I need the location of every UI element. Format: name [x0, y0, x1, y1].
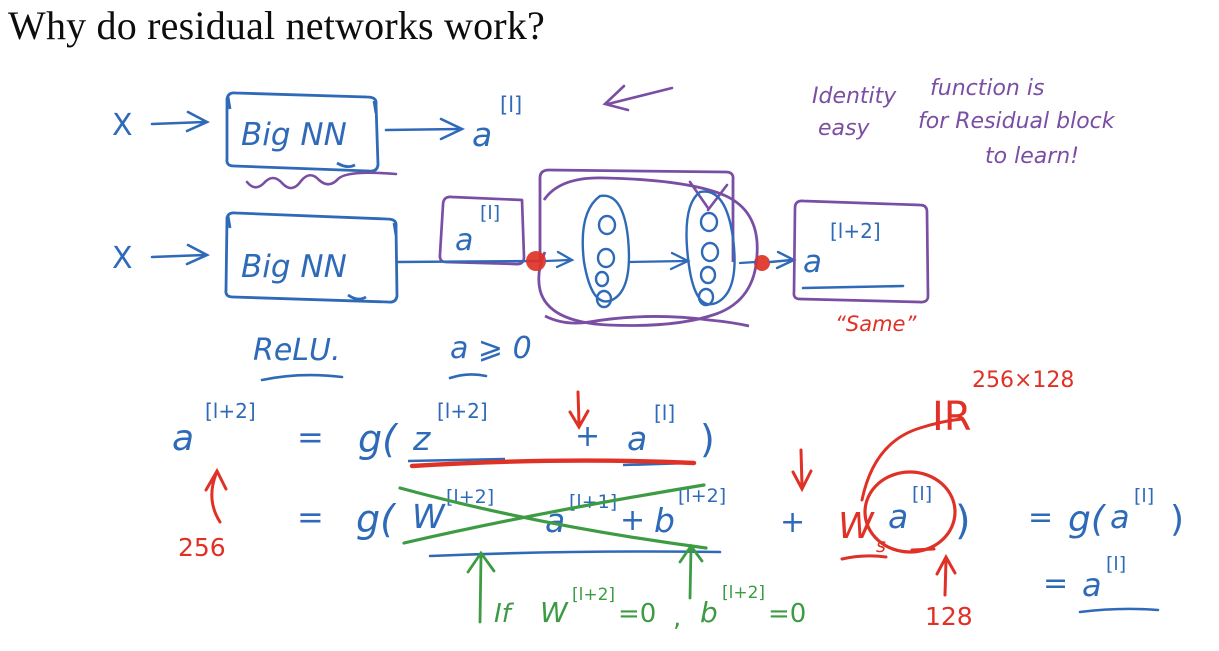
zero-condition-w-eq: =0 — [618, 599, 656, 629]
eq2-ws-a-sup: [l] — [912, 483, 932, 505]
equation-line-4: = a [l] — [1043, 553, 1158, 612]
eq1-lhs-sup: [l+2] — [205, 399, 256, 423]
eq2-plus-1: + — [620, 503, 645, 538]
eq2-highlight-ellipse — [865, 472, 955, 552]
eq1-a-sup: [l] — [654, 401, 675, 425]
row1-bignn-label: Big NN — [241, 117, 347, 153]
dim-256-label: 256 — [178, 533, 226, 562]
eq1-lhs-base: a — [172, 418, 194, 459]
eq2-close-paren: ) — [955, 498, 971, 544]
eq2-plus-2: + — [780, 505, 805, 540]
zero-condition-w-sup: [l+2] — [572, 585, 615, 605]
eq1-z-base: z — [412, 419, 431, 458]
row1-output-sup: [l] — [500, 93, 522, 117]
eq3-equals: = — [1028, 500, 1053, 535]
row2-bignn-label: Big NN — [241, 249, 347, 285]
eq2-ws-a-underline — [912, 549, 934, 550]
eq3-g-open: g( — [1068, 499, 1107, 540]
nonnegativity-note-underline — [450, 374, 486, 378]
residual-arrow-4-icon — [770, 252, 794, 268]
residual-block-outline — [539, 170, 757, 326]
row1-arrow-1-icon — [152, 112, 207, 131]
eq2-green-arrow-right-icon — [680, 546, 702, 598]
eq4-equals: = — [1043, 566, 1068, 601]
eq3-a-base: a — [1110, 498, 1130, 536]
eq3-close-paren: ) — [1170, 499, 1184, 540]
dim-256-group: 256 — [178, 471, 226, 562]
eq4-a-sup: [l] — [1106, 553, 1126, 575]
dim-256-arrow-icon — [206, 471, 226, 522]
row1-input-label: X — [112, 108, 133, 143]
eq2-ws-underline — [842, 556, 886, 559]
slide-canvas: Why do residual networks work? X Big NN — [0, 0, 1219, 651]
row1-group: X Big NN a [l] — [112, 86, 672, 188]
zero-condition-b-sup: [l+2] — [722, 583, 765, 603]
activation-box-sup: [l] — [480, 202, 500, 224]
activation-box-base: a — [455, 223, 473, 258]
residual-layer-1 — [583, 196, 629, 307]
eq2-green-arrow-left-icon — [468, 553, 494, 622]
eq2-a-base: a — [545, 501, 565, 540]
zero-condition-w-base: W — [540, 596, 569, 629]
dim-128-arrow-icon — [937, 557, 955, 595]
identity-note-line5: to learn! — [985, 144, 1079, 169]
eq4-a-base: a — [1082, 566, 1102, 604]
eq1-a-base: a — [627, 419, 647, 458]
identity-note-line4: for Residual block — [918, 109, 1116, 134]
output-box-sup: [l+2] — [830, 219, 881, 243]
zero-condition-note: If W [l+2] =0 , b [l+2] =0 — [494, 583, 806, 633]
eq2-ws-a-base: a — [888, 497, 908, 536]
output-box-base: a — [803, 244, 822, 280]
equation-line-1: a [l+2] = g( z [l+2] + a [l] ) — [172, 392, 715, 466]
eq4-underline — [1080, 609, 1158, 612]
residual-arrow-3-icon — [740, 262, 756, 263]
handwritten-ink-layer: X Big NN a [l] — [0, 0, 1219, 651]
zero-condition-comma: , — [673, 603, 681, 633]
equation-line-3: = g( a [l] ) — [1028, 485, 1184, 540]
relu-note-label: ReLU. — [253, 333, 341, 368]
row2-input-label: X — [112, 241, 133, 276]
eq2-blue-down-arrow-icon — [793, 450, 811, 489]
eq2-blue-underline — [430, 552, 720, 557]
eq1-equals: = — [297, 418, 324, 456]
eq2-w-base: W — [412, 497, 446, 536]
eq2-b-base: b — [654, 501, 675, 540]
residual-input-junction-dot — [526, 251, 546, 271]
eq2-equals: = — [297, 498, 324, 536]
row1-arrow-2-icon — [386, 119, 462, 139]
identity-pointer-arrow-icon — [605, 86, 672, 110]
identity-note-line1: Identity — [812, 84, 897, 109]
matrix-space-sup: 256×128 — [972, 368, 1074, 393]
row2-signal-line — [396, 261, 540, 262]
identity-note-line3: function is — [930, 76, 1044, 101]
nonnegativity-note-label: a ⩾ 0 — [450, 331, 532, 366]
eq2-g-open: g( — [356, 497, 397, 541]
eq1-g-open: g( — [358, 417, 399, 461]
matrix-space-base: IR — [932, 394, 972, 440]
eq3-a-sup: [l] — [1134, 485, 1154, 507]
eq1-z-sup: [l+2] — [437, 399, 488, 423]
residual-arrow-1-icon — [546, 252, 572, 267]
row1-output-base: a — [472, 115, 492, 154]
identity-note-line2: easy — [818, 116, 870, 141]
eq1-close-paren: ) — [700, 417, 715, 461]
output-box-note: “Same” — [835, 312, 917, 336]
dim-128-label: 128 — [925, 602, 973, 631]
relu-note-underline — [262, 375, 342, 380]
zero-condition-prefix: If — [494, 599, 515, 629]
residual-arrow-2-icon — [630, 253, 688, 269]
identity-note: Identity easy function is for Residual b… — [812, 76, 1116, 169]
zero-condition-b-base: b — [700, 596, 718, 629]
row2-group: X Big NN a [l] — [112, 170, 928, 336]
matrix-space-group: IR 256×128 — [932, 368, 1074, 440]
output-box-underline — [803, 286, 903, 288]
zero-condition-b-eq: =0 — [768, 599, 806, 629]
row1-box-underline — [247, 173, 396, 188]
relu-note-group: ReLU. a ⩾ 0 — [253, 331, 532, 380]
row2-arrow-1-icon — [152, 245, 207, 264]
